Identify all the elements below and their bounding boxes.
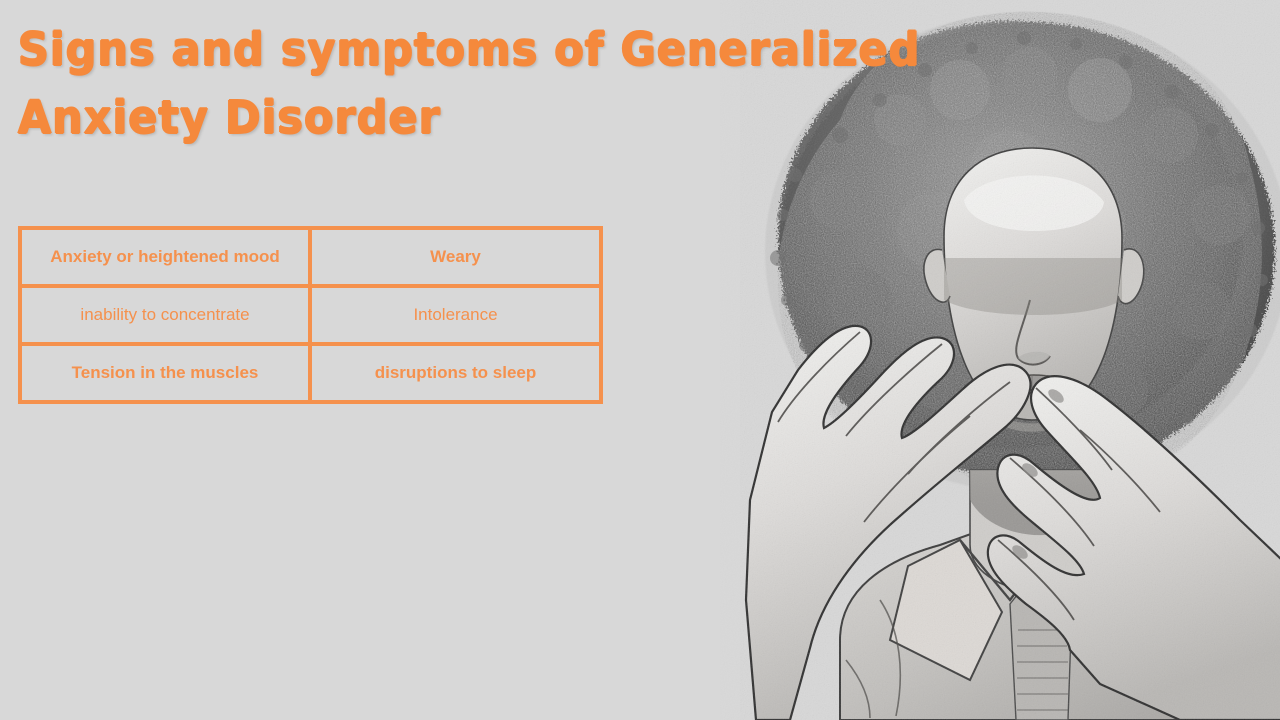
slide-canvas: Signs and symptoms of Generalized Anxiet… — [0, 0, 1280, 720]
page-title: Signs and symptoms of Generalized Anxiet… — [18, 16, 718, 152]
symptoms-table: Anxiety or heightened mood Weary inabili… — [18, 226, 603, 404]
symptoms-table-body: Anxiety or heightened mood Weary inabili… — [20, 228, 601, 402]
symptom-cell-inability-concentrate: inability to concentrate — [20, 286, 310, 344]
symptom-cell-sleep-disruption: disruptions to sleep — [310, 344, 601, 402]
hair-shape — [765, 10, 1280, 510]
torso-shape — [840, 470, 1280, 720]
table-row: inability to concentrate Intolerance — [20, 286, 601, 344]
symptom-cell-intolerance: Intolerance — [310, 286, 601, 344]
table-row: Anxiety or heightened mood Weary — [20, 228, 601, 286]
title-line-2: Anxiety Disorder — [18, 84, 683, 152]
table-row: Tension in the muscles disruptions to sl… — [20, 344, 601, 402]
symptom-cell-muscle-tension: Tension in the muscles — [20, 344, 310, 402]
symptom-cell-weary: Weary — [310, 228, 601, 286]
title-line-1: Signs and symptoms of Generalized — [18, 16, 683, 84]
hands-shape — [746, 258, 1280, 720]
symptom-cell-anxiety-mood: Anxiety or heightened mood — [20, 228, 310, 286]
face-shape — [924, 148, 1144, 432]
